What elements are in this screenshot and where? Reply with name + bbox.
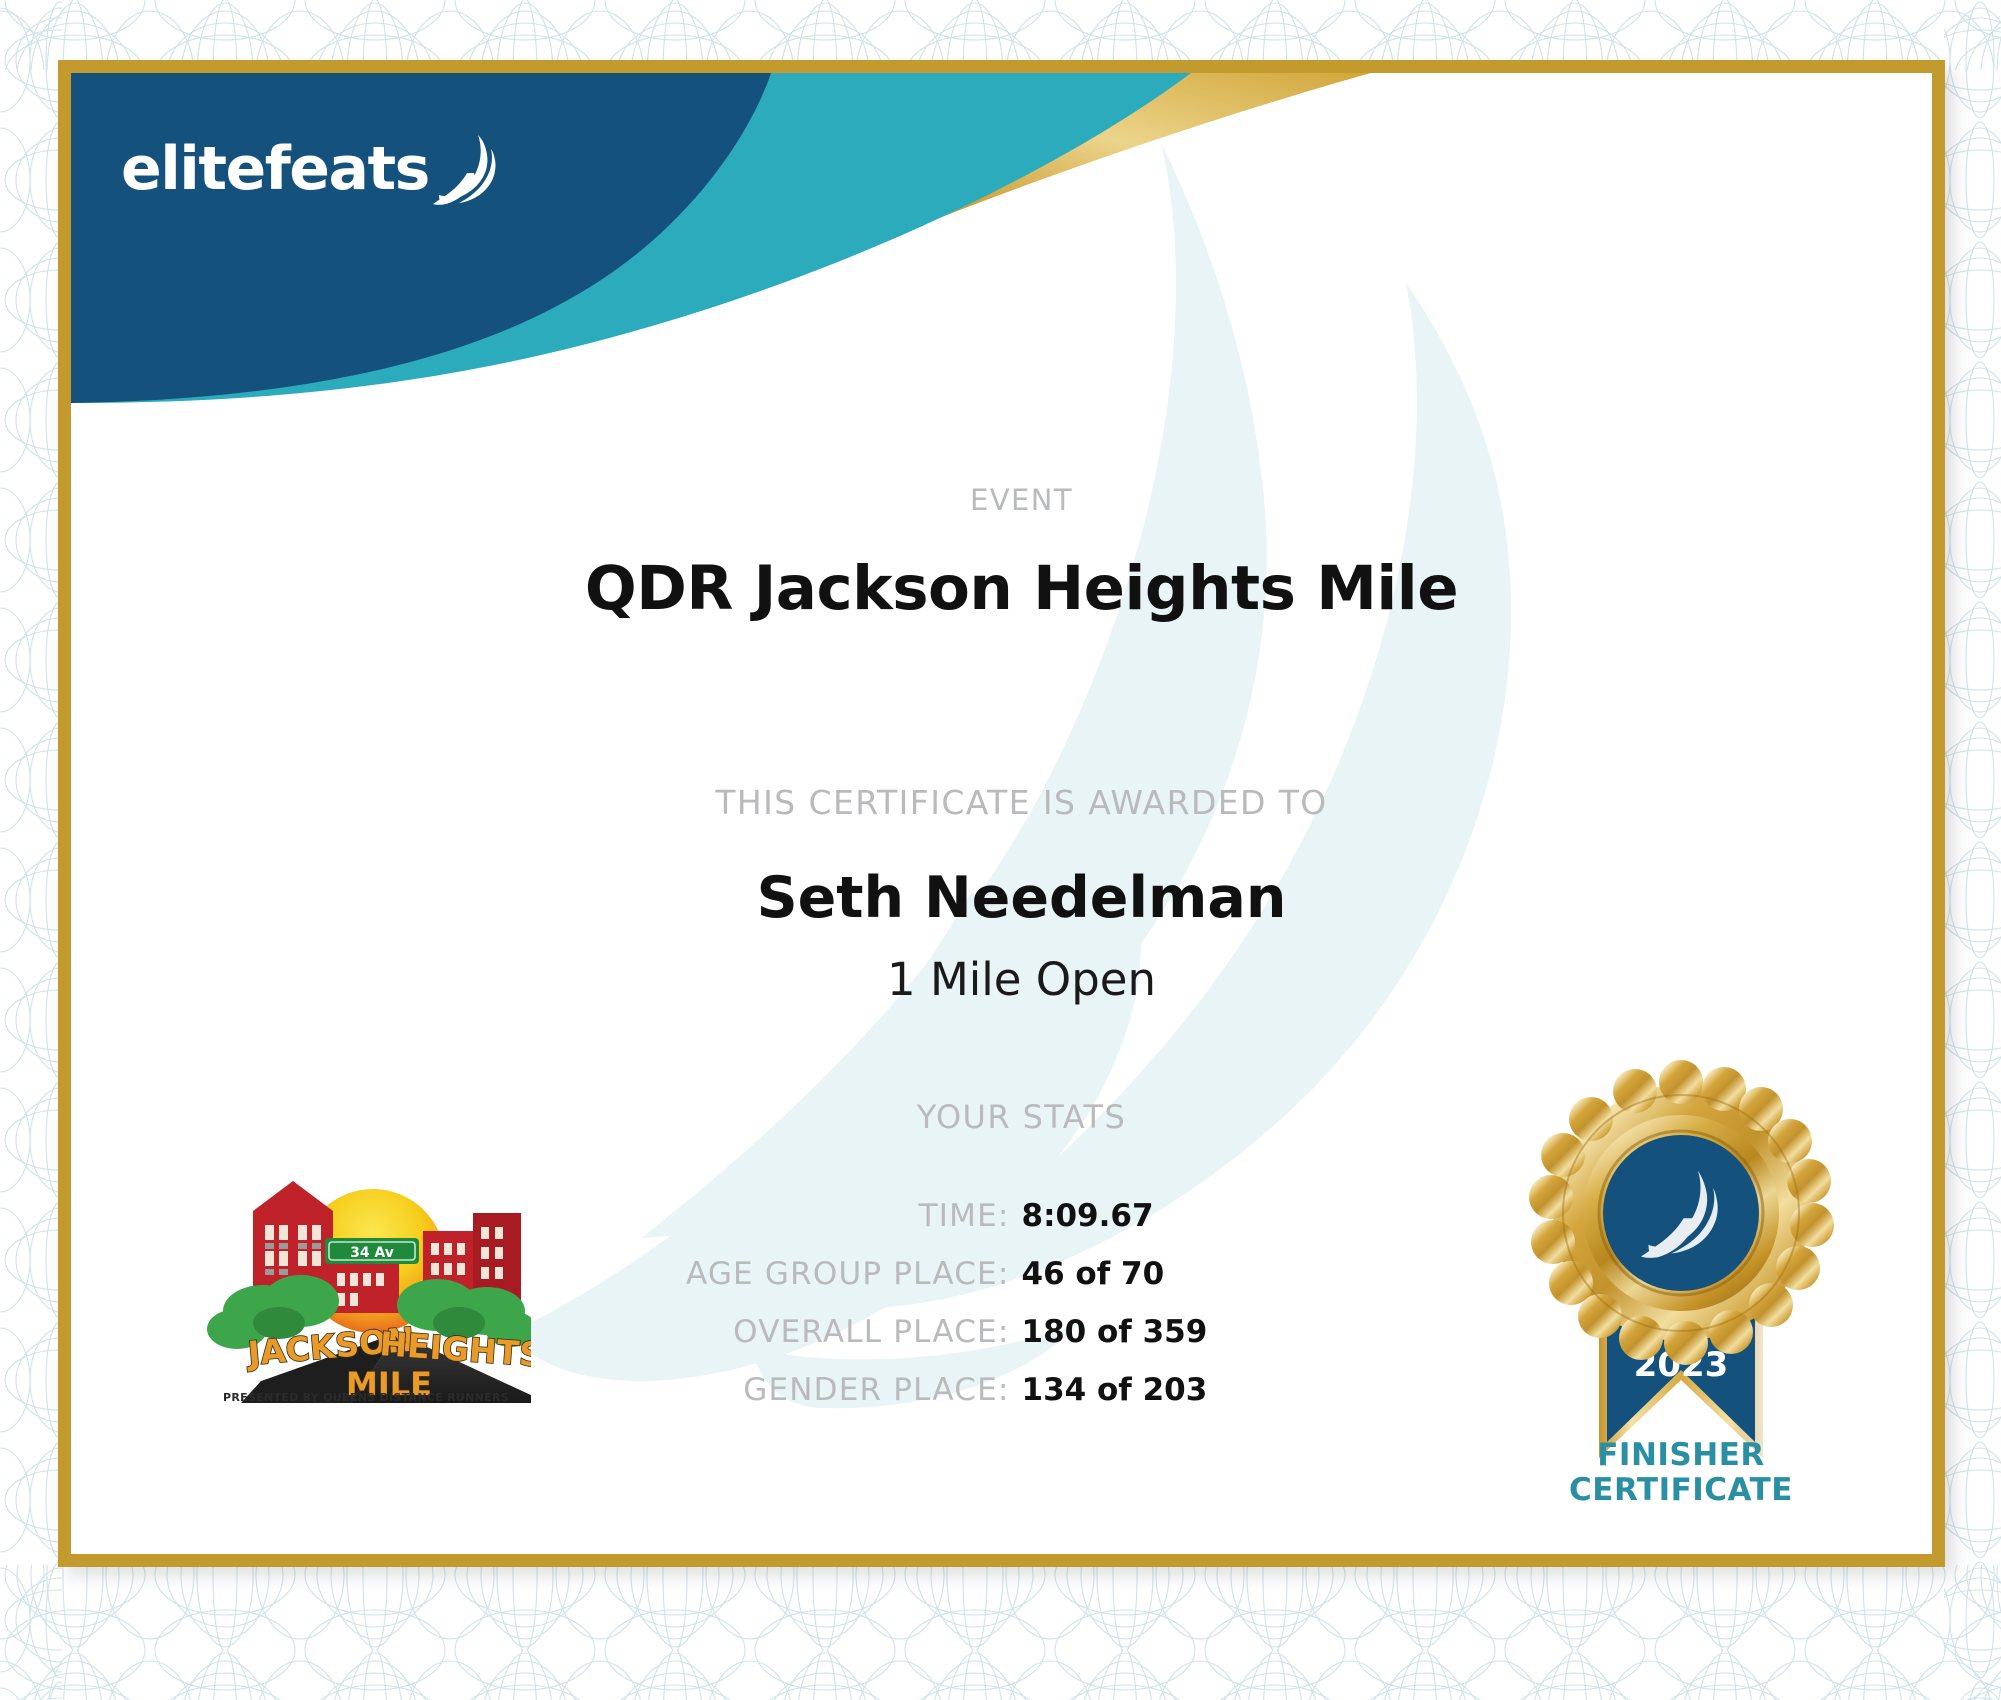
badge-caption-line2: CERTIFICATE <box>1521 1473 1841 1508</box>
event-name: QDR Jackson Heights Mile <box>71 553 1932 624</box>
badge-caption-line1: FINISHER <box>1521 1438 1841 1473</box>
stat-value: 8:09.67 <box>1022 1198 1502 1234</box>
recipient-name: Seth Needelman <box>71 865 1932 931</box>
logo-presented-by: PRESENTED BY QUEENS DISTANCE RUNNERS <box>223 1391 509 1403</box>
stat-key: TIME: <box>542 1198 1022 1234</box>
stat-value: 134 of 203 <box>1022 1372 1502 1408</box>
winged-foot-icon <box>431 133 497 205</box>
badge-caption: FINISHER CERTIFICATE <box>1521 1438 1841 1507</box>
stat-value: 46 of 70 <box>1022 1256 1502 1292</box>
stat-value: 180 of 359 <box>1022 1314 1502 1350</box>
street-sign-label: 34 Av <box>350 1245 394 1261</box>
stat-key: OVERALL PLACE: <box>542 1314 1022 1350</box>
division-name: 1 Mile Open <box>71 953 1932 1006</box>
stat-key: GENDER PLACE: <box>542 1372 1022 1408</box>
certificate-page: elitefeats EVENT QDR Jackson Heights Mil… <box>0 0 2001 1700</box>
medal <box>1529 1060 1834 1365</box>
certificate-frame: elitefeats EVENT QDR Jackson Heights Mil… <box>58 60 1945 1567</box>
awarded-to-label: THIS CERTIFICATE IS AWARDED TO <box>71 783 1932 822</box>
event-label: EVENT <box>71 483 1932 517</box>
stat-key: AGE GROUP PLACE: <box>542 1256 1022 1292</box>
brand-name: elitefeats <box>121 134 429 204</box>
brand-logo: elitefeats <box>121 133 497 205</box>
race-logo: 34 Av JACKSON HEIGHTS MILE PRESENTED BY … <box>201 1133 531 1403</box>
certificate-body: elitefeats EVENT QDR Jackson Heights Mil… <box>71 73 1932 1554</box>
